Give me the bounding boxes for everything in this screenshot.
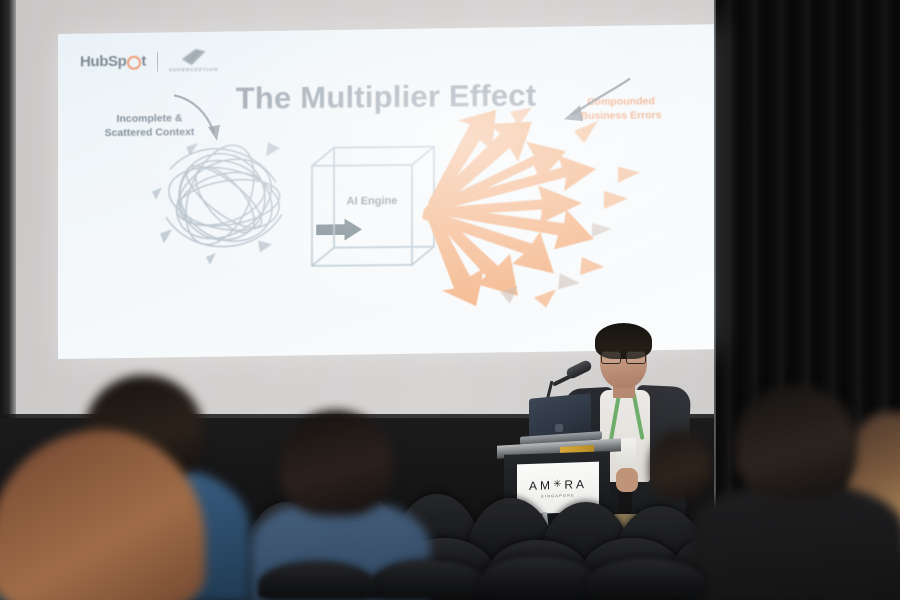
- partner-logo-label: SUPERCEPTION: [169, 67, 218, 73]
- tangled-scribble-icon: [150, 128, 300, 270]
- laptop-logo-icon: [555, 424, 563, 432]
- venue-sub-label: SINGAPORE: [541, 493, 575, 498]
- audience-member-right-man-body: [690, 485, 900, 600]
- venue-brand-left: AM: [529, 478, 553, 493]
- error-burst-arrows-icon: [414, 106, 644, 308]
- venue-brand-name: AM✳RA: [529, 477, 587, 493]
- hubspot-wordmark-part2: t: [141, 53, 146, 70]
- speaker-hand: [616, 468, 638, 492]
- folded-ribbon-icon: [182, 49, 206, 65]
- hubspot-wordmark-part1: HubSp: [80, 53, 126, 70]
- conference-photo-scene: HubSpt SUPERCEPTION The Multiplier Effec…: [0, 0, 900, 600]
- audience-member-center-head: [280, 410, 392, 516]
- partner-logo: SUPERCEPTION: [169, 49, 218, 73]
- glasses-icon: [601, 351, 646, 362]
- wall-left-shadow: [0, 0, 16, 420]
- hubspot-logo: HubSpt: [80, 53, 146, 71]
- audience-member-far-head: [650, 430, 710, 500]
- projected-slide: HubSpt SUPERCEPTION The Multiplier Effec…: [58, 24, 714, 359]
- audience-member-right-man-head: [735, 385, 857, 501]
- slide-logo-lockup: HubSpt SUPERCEPTION: [80, 49, 218, 73]
- left-label-line-1: Incomplete &: [82, 111, 217, 127]
- venue-brand-right: RA: [564, 477, 587, 492]
- logo-divider: [157, 51, 158, 71]
- venue-star-icon: ✳: [553, 478, 564, 489]
- hubspot-sprocket-icon: [127, 55, 141, 69]
